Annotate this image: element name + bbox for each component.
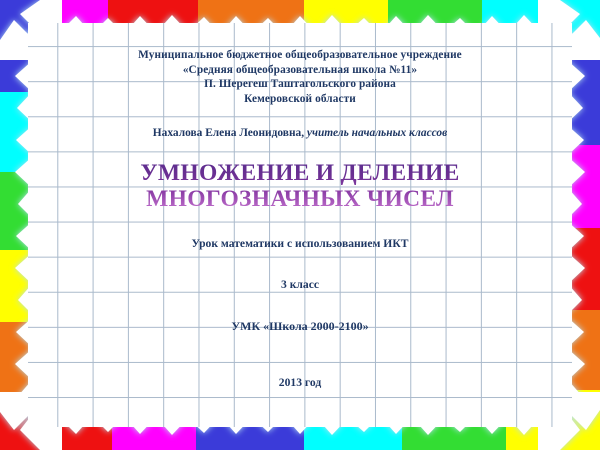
school-header-line-1: Муниципальное бюджетное общеобразователь… — [40, 48, 560, 63]
author-role: учитель начальных классов — [307, 127, 447, 139]
presentation-slide: Муниципальное бюджетное общеобразователь… — [0, 0, 600, 450]
main-title: УМНОЖЕНИЕ И ДЕЛЕНИЕ МНОГОЗНАЧНЫХ ЧИСЕЛ — [40, 161, 560, 212]
author-name: Нахалова Елена Леонидовна, — [153, 127, 304, 139]
program-label: УМК «Школа 2000-2100» — [40, 319, 560, 334]
school-header: Муниципальное бюджетное общеобразователь… — [40, 30, 560, 106]
school-header-line-2: «Средняя общеобразовательная школа №11» — [40, 63, 560, 78]
author-line: Нахалова Елена Леонидовна, учитель начал… — [40, 126, 560, 141]
school-header-line-4: Кемеровской области — [40, 92, 560, 107]
school-header-line-3: П. Шерегеш Таштагольского района — [40, 77, 560, 92]
main-title-line-2: МНОГОЗНАЧНЫХ ЧИСЕЛ — [40, 187, 560, 213]
lesson-subtitle: Урок математики с использованием ИКТ — [40, 237, 560, 250]
main-title-line-1: УМНОЖЕНИЕ И ДЕЛЕНИЕ — [40, 161, 560, 187]
grade-label: 3 класс — [40, 278, 560, 291]
year-label: 2013 год — [40, 376, 560, 389]
slide-text-content: Муниципальное бюджетное общеобразователь… — [40, 30, 560, 430]
